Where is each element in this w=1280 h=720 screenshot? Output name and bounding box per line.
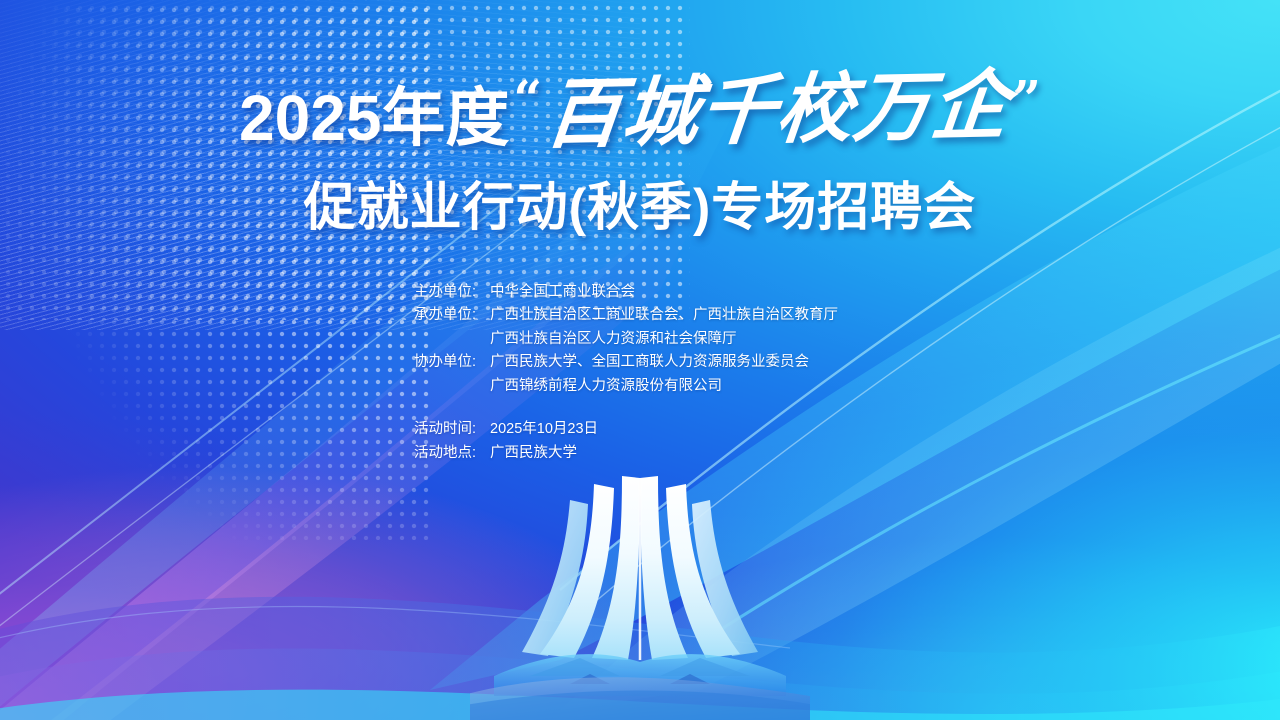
supporter-value: 广西民族大学、全国工商联人力资源服务业委员会	[490, 351, 974, 374]
poster-info-block: 主办单位: 中华全国工商业联合会 承办单位: 广西壮族自治区工商业联合会、广西壮…	[414, 281, 974, 465]
supporter-value-line2: 广西锦绣前程人力资源股份有限公司	[414, 375, 974, 398]
info-row-supporter: 协办单位: 广西民族大学、全国工商联人力资源服务业委员会	[414, 351, 974, 374]
title-brush-slogan: 百城千校万企	[542, 67, 1013, 155]
co-organizer-value-line2: 广西壮族自治区人力资源和社会保障厅	[414, 328, 974, 351]
title-year: 2025年度	[239, 86, 509, 150]
supporter-label: 协办单位:	[414, 351, 490, 374]
poster-title-line1: 2025年度 “ 百城千校万企 ”	[0, 72, 1280, 150]
organizer-label: 主办单位:	[414, 281, 490, 304]
quote-close-mark: ”	[1012, 74, 1041, 124]
info-row-organizer: 主办单位: 中华全国工商业联合会	[414, 281, 974, 304]
poster-subtitle: 促就业行动(秋季)专场招聘会	[0, 178, 1280, 239]
info-row-event-time: 活动时间: 2025年10月23日	[414, 418, 974, 441]
event-place-label: 活动地点:	[414, 442, 490, 465]
organizer-value: 中华全国工商业联合会	[490, 281, 974, 304]
info-row-event-place: 活动地点: 广西民族大学	[414, 442, 974, 465]
co-organizer-label: 承办单位:	[414, 304, 490, 327]
info-spacer	[414, 398, 974, 418]
poster-stage: 2025年度 “ 百城千校万企 ” 促就业行动(秋季)专场招聘会 主办单位: 中…	[0, 0, 1280, 720]
event-time-value: 2025年10月23日	[490, 418, 974, 441]
event-place-value: 广西民族大学	[490, 442, 974, 465]
poster-content: 2025年度 “ 百城千校万企 ” 促就业行动(秋季)专场招聘会 主办单位: 中…	[0, 0, 1280, 720]
info-row-co-organizer: 承办单位: 广西壮族自治区工商业联合会、广西壮族自治区教育厅	[414, 304, 974, 327]
event-time-label: 活动时间:	[414, 418, 490, 441]
quote-open-mark: “	[513, 74, 542, 124]
co-organizer-value: 广西壮族自治区工商业联合会、广西壮族自治区教育厅	[490, 304, 974, 327]
